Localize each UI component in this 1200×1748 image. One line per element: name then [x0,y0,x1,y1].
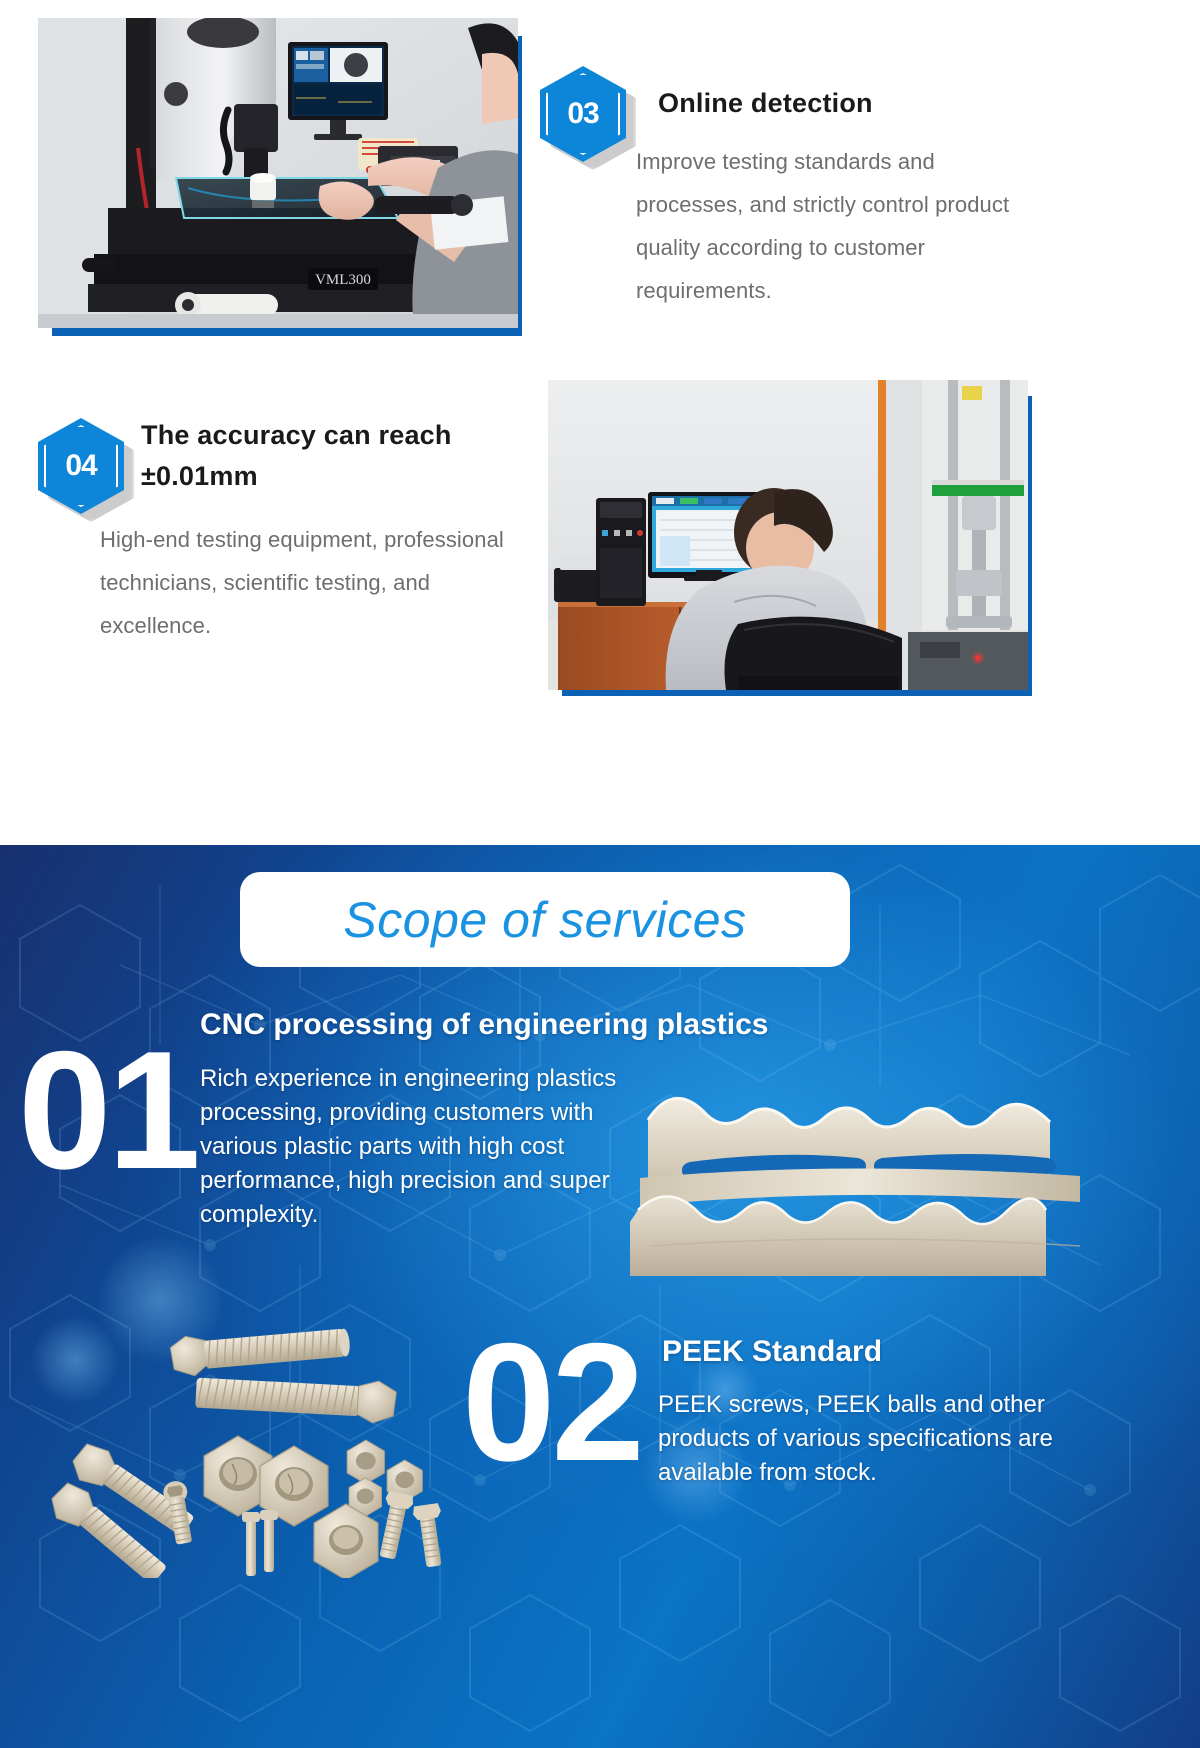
item-title-cnc-processing: CNC processing of engineering plastics [200,1006,960,1044]
photo-online-detection: VML300 [38,18,518,328]
badge-number: 03 [540,66,626,162]
item-title-peek-standard: PEEK Standard [662,1333,1082,1371]
product-image-peek-fasteners [30,1278,460,1578]
product-image-plastic-part [630,1046,1090,1276]
hexagon-badge-04: 04 [38,418,124,514]
item-body-peek-standard: PEEK screws, PEEK balls and other produc… [658,1388,1078,1490]
item-body-cnc-processing: Rich experience in engineering plastics … [200,1062,640,1232]
item-number-01: 01 [18,1026,197,1194]
scope-banner: Scope of services [240,872,850,967]
card-body-online-detection: Improve testing standards and processes,… [636,140,1026,312]
card-body-accuracy: High-end testing equipment, professional… [100,518,530,647]
badge-number: 04 [38,418,124,514]
top-white-section: VML300 03 Online detection Improve testi… [0,0,1200,845]
scope-banner-title: Scope of services [343,891,746,949]
photo-testing-lab [548,380,1028,690]
svg-text:VML300: VML300 [315,272,371,288]
card-title-online-detection: Online detection [658,83,1078,124]
hexagon-badge-03: 03 [540,66,626,162]
item-number-02: 02 [462,1318,641,1486]
card-title-accuracy: The accuracy can reach ±0.01mm [141,415,541,497]
